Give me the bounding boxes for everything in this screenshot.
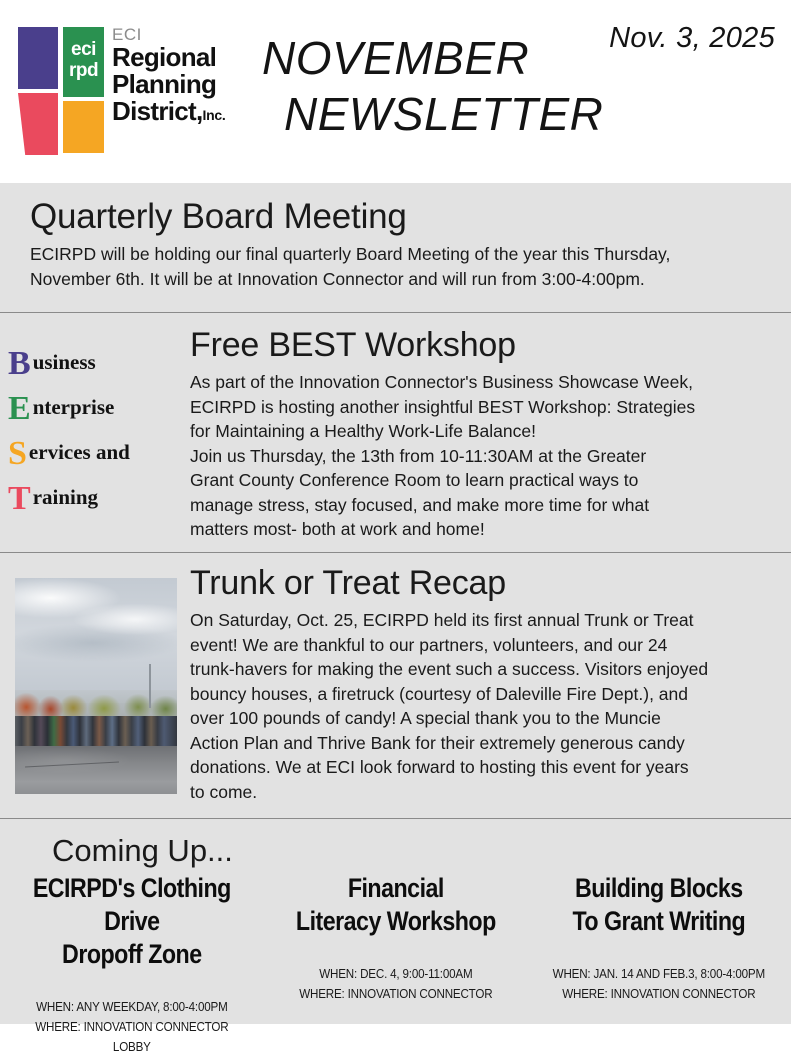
coming-up-list: ECIRPD's Clothing Drive Dropoff Zone WHE… <box>0 872 791 1057</box>
best-acronym-row-business: Business <box>8 340 180 385</box>
best-initial-e: E <box>8 390 33 427</box>
trunk-or-treat-photo <box>15 578 177 794</box>
coming-up-meta: WHEN: ANY WEEKDAY, 8:00-4:00PMWHERE: INN… <box>17 997 247 1057</box>
coming-up-title: Building Blocks To Grant Writing <box>553 872 766 938</box>
section-divider-1 <box>0 312 791 313</box>
coming-up-where: WHERE: INNOVATION CONNECTOR LOBBY <box>35 1020 228 1054</box>
logo-mark-text-eci: eci <box>71 39 96 60</box>
photo-parking-lot <box>15 746 177 794</box>
newsletter-date: Nov. 3, 2025 <box>609 22 775 55</box>
logo-word-regional: Regional <box>112 44 242 71</box>
logo-mark: ecirpd <box>18 27 104 155</box>
best-initial-t: T <box>8 480 33 517</box>
coming-up-where: WHERE: INNOVATION CONNECTOR <box>299 987 492 1001</box>
logo-quadrant-red-icon <box>18 93 58 155</box>
logo-word-district-text: District, <box>112 96 203 126</box>
coming-up-when: WHEN: ANY WEEKDAY, 8:00-4:00PM <box>36 1000 227 1014</box>
newsletter-title-line1: NOVEMBER <box>262 30 662 86</box>
logo-word-district: District,Inc. <box>112 98 242 129</box>
best-acronym-row-services: Services and <box>8 430 180 475</box>
masthead: ecirpd ECI Regional Planning District,In… <box>0 0 791 183</box>
section-quarterly-board-meeting: Quarterly Board Meeting ECIRPD will be h… <box>30 198 760 291</box>
coming-up-where: WHERE: INNOVATION CONNECTOR <box>563 987 756 1001</box>
photo-light-pole <box>149 664 151 707</box>
logo-quadrant-orange-icon <box>63 101 104 153</box>
logo-word-inc: Inc. <box>203 107 226 123</box>
coming-up-meta: WHEN: DEC. 4, 9:00-11:00AMWHERE: INNOVAT… <box>280 964 510 1004</box>
best-acronym: Business Enterprise Services and Trainin… <box>8 340 180 520</box>
trunk-title: Trunk or Treat Recap <box>190 564 768 602</box>
workshop-title: Free BEST Workshop <box>190 326 765 364</box>
logo-quadrant-purple-icon <box>18 27 58 89</box>
newsletter-page: ecirpd ECI Regional Planning District,In… <box>0 0 791 1024</box>
logo-mark-text-rpd: rpd <box>69 60 98 81</box>
photo-crowd <box>15 716 177 748</box>
board-meeting-title: Quarterly Board Meeting <box>30 198 760 236</box>
section-trunk-or-treat-recap: Trunk or Treat Recap On Saturday, Oct. 2… <box>190 564 768 804</box>
best-acronym-row-enterprise: Enterprise <box>8 385 180 430</box>
photo-sky <box>15 578 177 703</box>
coming-up-title: ECIRPD's Clothing Drive Dropoff Zone <box>25 872 238 971</box>
best-word-enterprise: nterprise <box>33 395 115 419</box>
logo-word-planning: Planning <box>112 71 242 98</box>
section-divider-2 <box>0 552 791 553</box>
coming-up-title: Financial Literacy Workshop <box>289 872 502 938</box>
board-meeting-body: ECIRPD will be holding our final quarter… <box>30 242 760 291</box>
newsletter-title-line2: NEWSLETTER <box>284 86 662 142</box>
coming-up-heading: Coming Up... <box>52 834 233 868</box>
coming-up-when: WHEN: DEC. 4, 9:00-11:00AM <box>319 967 472 981</box>
coming-up-item-clothing-drive: ECIRPD's Clothing Drive Dropoff Zone WHE… <box>0 872 264 1057</box>
workshop-body: As part of the Innovation Connector's Bu… <box>190 370 765 542</box>
coming-up-item-grant-writing: Building Blocks To Grant Writing WHEN: J… <box>527 872 791 1057</box>
best-initial-b: B <box>8 345 33 382</box>
best-word-business: usiness <box>33 350 96 374</box>
section-divider-3 <box>0 818 791 819</box>
newsletter-title: NOVEMBER NEWSLETTER <box>262 30 662 142</box>
coming-up-item-financial-literacy: Financial Literacy Workshop WHEN: DEC. 4… <box>264 872 528 1057</box>
eci-rpd-logo: ecirpd ECI Regional Planning District,In… <box>18 20 238 160</box>
best-word-services: ervices and <box>29 440 130 464</box>
best-word-training: raining <box>33 485 98 509</box>
coming-up-when: WHEN: JAN. 14 AND FEB.3, 8:00-4:00PM <box>553 967 765 981</box>
best-acronym-row-training: Training <box>8 475 180 520</box>
logo-mark-text: ecirpd <box>63 39 104 81</box>
best-initial-s: S <box>8 435 29 472</box>
section-free-best-workshop: Free BEST Workshop As part of the Innova… <box>190 326 765 542</box>
trunk-body: On Saturday, Oct. 25, ECIRPD held its fi… <box>190 608 768 804</box>
coming-up-meta: WHEN: JAN. 14 AND FEB.3, 8:00-4:00PMWHER… <box>544 964 774 1004</box>
logo-wordmark: ECI Regional Planning District,Inc. <box>112 20 242 129</box>
